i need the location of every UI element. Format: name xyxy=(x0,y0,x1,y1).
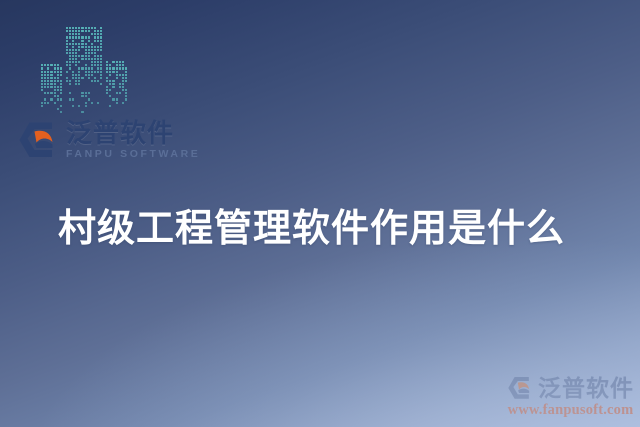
fanpu-logo-mark-icon xyxy=(18,121,58,159)
watermark: 泛普软件 www.fanpusoft.com xyxy=(507,376,634,419)
fanpu-watermark-logo-mark-icon xyxy=(507,376,533,400)
promo-banner: 泛普软件 FANPU SOFTWARE 村级工程管理软件作用是什么 泛普软件 w… xyxy=(0,0,640,427)
brand-logo-en-text: FANPU SOFTWARE xyxy=(66,149,200,160)
brand-logo-cn-text: 泛普软件 xyxy=(66,120,200,146)
watermark-url: www.fanpusoft.com xyxy=(507,402,634,419)
pixel-buildings-graphic xyxy=(38,24,130,116)
brand-logo: 泛普软件 FANPU SOFTWARE xyxy=(18,120,200,160)
page-title: 村级工程管理软件作用是什么 xyxy=(58,197,565,252)
watermark-cn-text: 泛普软件 xyxy=(538,377,634,400)
watermark-logo-row: 泛普软件 xyxy=(507,376,634,400)
